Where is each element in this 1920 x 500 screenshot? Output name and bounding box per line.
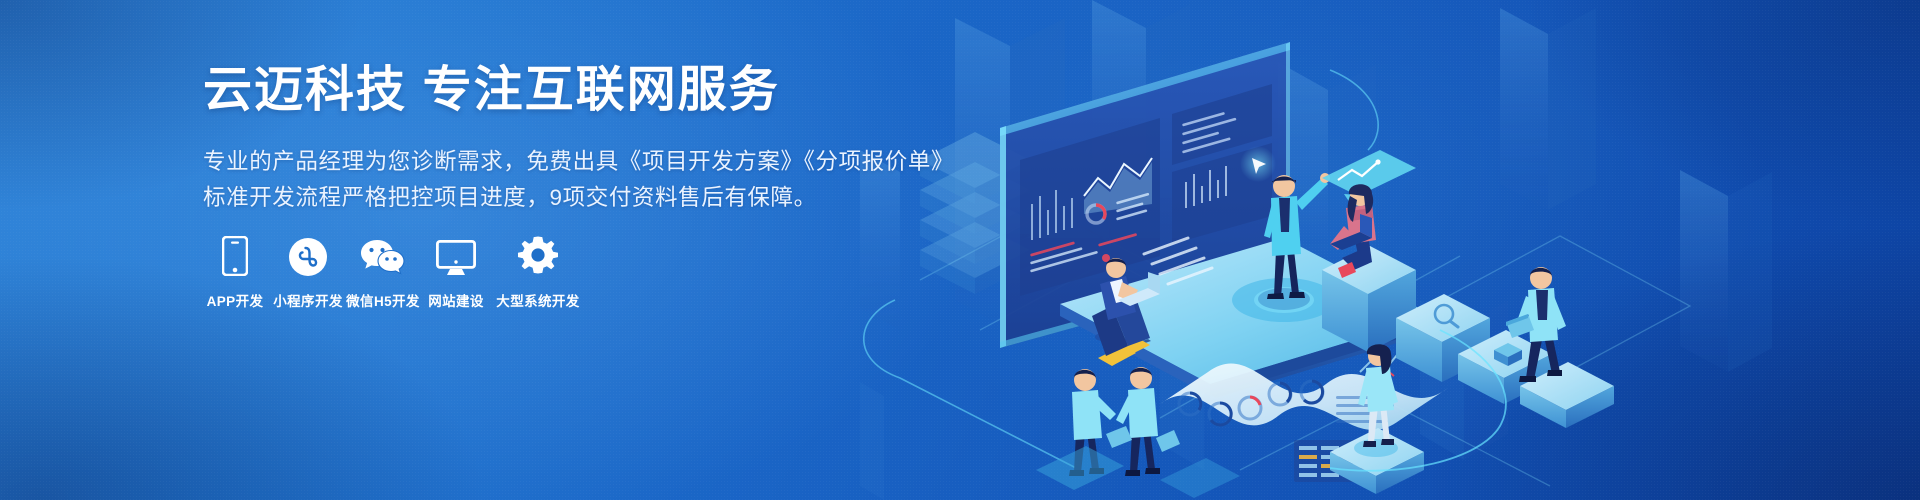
- service-item-app[interactable]: APP开发: [199, 232, 271, 310]
- service-item-wechat-h5[interactable]: 微信H5开发: [345, 232, 421, 310]
- promo-banner: 云迈科技 专注互联网服务 专业的产品经理为您诊断需求，免费出具《项目开发方案》《…: [0, 0, 1920, 500]
- service-item-large-system[interactable]: 大型系统开发: [491, 232, 585, 310]
- banner-copy: 云迈科技 专注互联网服务 专业的产品经理为您诊断需求，免费出具《项目开发方案》《…: [203, 62, 954, 217]
- subtitle-line-1: 专业的产品经理为您诊断需求，免费出具《项目开发方案》《分项报价单》: [203, 144, 954, 180]
- service-label: 大型系统开发: [496, 290, 579, 310]
- service-label: 小程序开发: [273, 290, 343, 310]
- service-item-website[interactable]: 网站建设: [421, 232, 491, 310]
- subtitle-line-2: 标准开发流程严格把控项目进度，9项交付资料售后有保障。: [203, 180, 954, 216]
- service-label: 微信H5开发: [346, 290, 420, 310]
- gear-icon: [518, 232, 558, 276]
- page-title: 云迈科技 专注互联网服务: [203, 62, 954, 120]
- wechat-icon: [361, 232, 405, 276]
- mobile-phone-icon: [222, 232, 248, 276]
- service-label: 网站建设: [428, 290, 484, 310]
- service-item-miniprogram[interactable]: 小程序开发: [271, 232, 345, 310]
- service-list: APP开发 小程序开发 微信: [199, 232, 585, 310]
- isometric-tech-teamwork-illustration: [860, 0, 1920, 500]
- desktop-monitor-icon: [436, 232, 476, 276]
- service-label: APP开发: [207, 290, 264, 310]
- mini-program-icon: [289, 232, 327, 276]
